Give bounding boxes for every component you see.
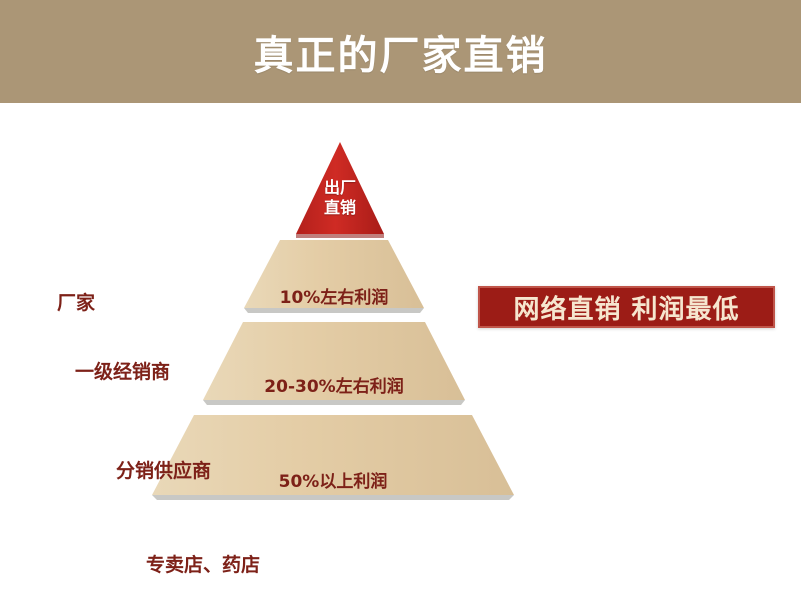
tier-3-inner-label: 20-30%左右利润	[203, 372, 465, 397]
tier-2-inner-label: 10%左右利润	[244, 283, 424, 308]
highlight-banner: 网络直销 利润最低	[478, 286, 775, 328]
apex-inner-label-line2: 直销	[296, 198, 384, 218]
pyramid-tier-apex: 出厂 直销	[296, 142, 384, 238]
side-label-retail: 专卖店、药店	[146, 550, 260, 577]
side-label-tier1: 一级经销商	[75, 357, 170, 384]
page-title: 真正的厂家直销	[0, 0, 801, 103]
apex-inner-label: 出厂 直销	[296, 178, 384, 218]
side-label-supplier: 分销供应商	[116, 456, 211, 483]
apex-inner-label-line1: 出厂	[296, 178, 384, 198]
slide-canvas: 真正的厂家直销 出厂 直销	[0, 0, 801, 608]
highlight-banner-text: 网络直销 利润最低	[513, 289, 739, 326]
pyramid-tier-3: 20-30%左右利润	[203, 322, 465, 406]
pyramid-tier-2: 10%左右利润	[244, 240, 424, 314]
pyramid-diagram: 出厂 直销 10%左右利润	[0, 103, 560, 608]
side-label-factory: 厂家	[57, 288, 95, 315]
